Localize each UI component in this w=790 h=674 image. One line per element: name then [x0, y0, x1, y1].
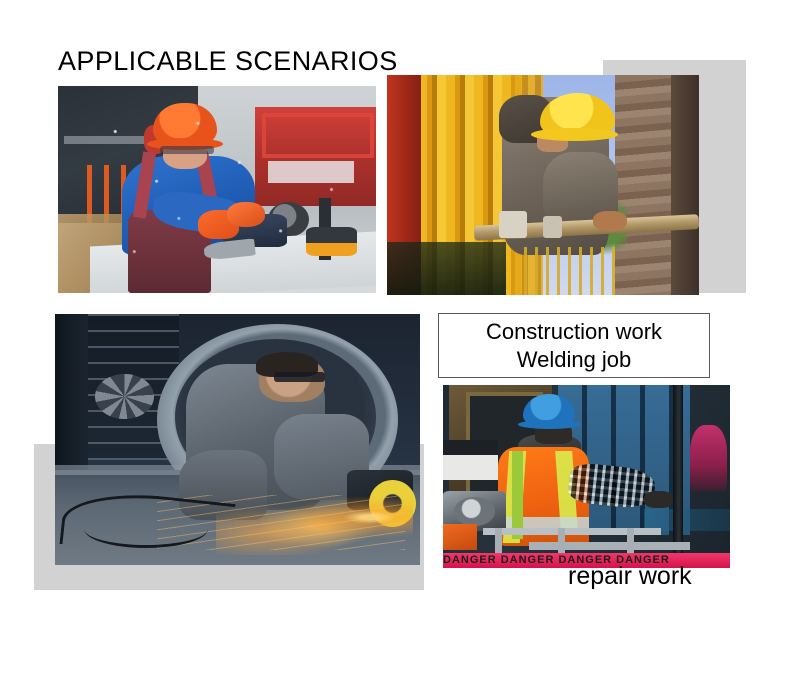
photo-safety-glasses — [274, 372, 325, 382]
photo-orange-equipment — [443, 524, 477, 550]
photo-scaffolding-formwork — [387, 75, 699, 295]
photo-worker-hand — [644, 491, 673, 507]
photo-pipe-grinding — [55, 314, 420, 565]
photo-saw-blade-wall — [95, 374, 153, 419]
photo-repair-worker: DANGER DANGER DANGER DANGER — [443, 385, 730, 568]
photo-yellow-hat-brim — [531, 128, 618, 141]
photo-guard-rail-lower — [529, 542, 690, 549]
photo-construction-cutting — [58, 86, 376, 293]
photo-dust-particles — [58, 86, 376, 293]
caption-line-2: Welding job — [517, 346, 632, 374]
caption-line-1: Construction work — [486, 318, 662, 346]
photo-worker-hand — [593, 211, 627, 231]
photo-winch-drum — [454, 497, 494, 526]
photo-rebar — [524, 247, 618, 295]
photo-timber-wall — [615, 75, 674, 295]
photo-wall-sign-header — [443, 440, 498, 455]
photo-vertical-pole — [673, 385, 683, 568]
photo-blue-hat-brim — [518, 420, 581, 429]
photo-safety-harness — [512, 451, 523, 539]
photo-shadow-foreground — [387, 242, 506, 295]
photo-power-cable-loop — [84, 510, 208, 548]
caption-box: Construction work Welding job — [438, 313, 710, 378]
photo-guard-rail-upper — [483, 528, 661, 535]
page-title: APPLICABLE SCENARIOS — [58, 48, 398, 75]
photo-scaffold-clamp-right — [543, 216, 562, 238]
photo-background-pedestrian — [690, 425, 727, 491]
photo-timber-edge — [671, 75, 699, 295]
slide-canvas: APPLICABLE SCENARIOS — [0, 0, 790, 674]
repair-work-label: repair work — [568, 563, 692, 591]
photo-scaffold-clamp-left — [499, 211, 527, 237]
